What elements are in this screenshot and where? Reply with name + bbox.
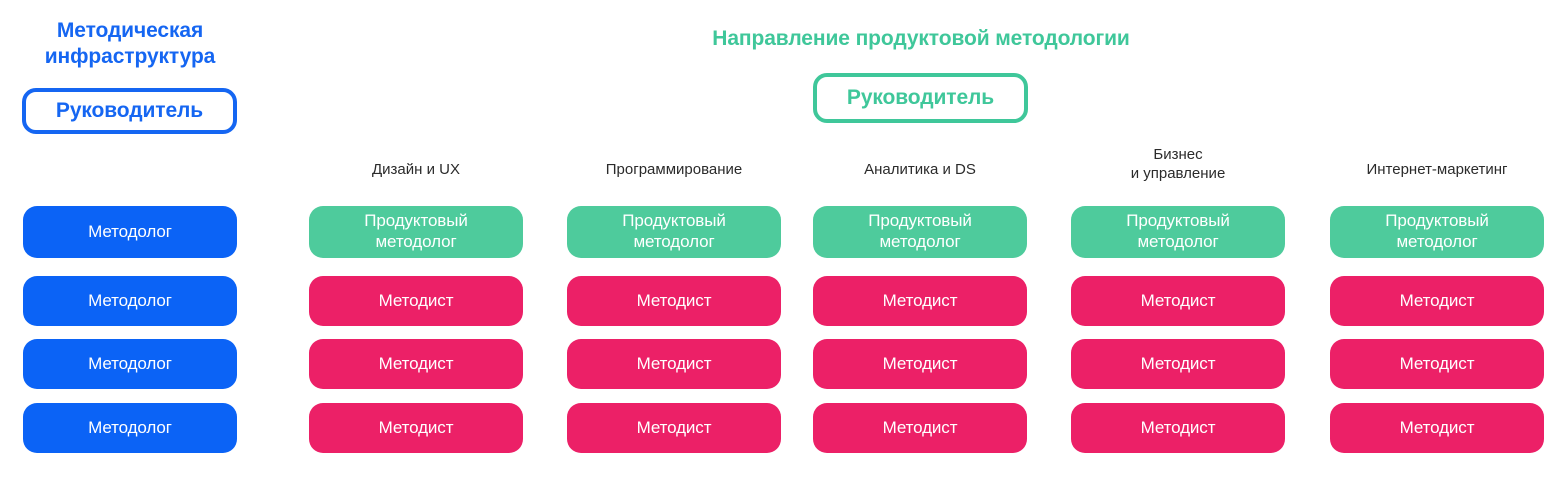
card-col5-row1[interactable]: Продуктовый методолог — [1330, 206, 1544, 258]
right-leader-box[interactable]: Руководитель — [813, 73, 1028, 123]
card-col2-row3[interactable]: Методист — [567, 339, 781, 389]
card-col5-row2[interactable]: Методист — [1330, 276, 1544, 326]
card-col3-row2[interactable]: Методист — [813, 276, 1027, 326]
card-col3-row1[interactable]: Продуктовый методолог — [813, 206, 1027, 258]
card-col2-row2[interactable]: Методист — [567, 276, 781, 326]
column-header-1: Дизайн и UX — [309, 160, 523, 179]
org-chart-canvas: Методическая инфраструктура Направление … — [0, 0, 1564, 504]
card-col4-row2[interactable]: Методист — [1071, 276, 1285, 326]
card-col1-row3[interactable]: Методист — [309, 339, 523, 389]
column-header-2: Программирование — [567, 160, 781, 179]
left-section-title: Методическая инфраструктура — [12, 18, 248, 69]
card-col1-row2[interactable]: Методист — [309, 276, 523, 326]
card-col1-row1[interactable]: Продуктовый методолог — [309, 206, 523, 258]
card-col1-row4[interactable]: Методист — [309, 403, 523, 453]
card-col3-row3[interactable]: Методист — [813, 339, 1027, 389]
card-col4-row3[interactable]: Методист — [1071, 339, 1285, 389]
left-leader-box[interactable]: Руководитель — [22, 88, 237, 134]
card-col3-row4[interactable]: Методист — [813, 403, 1027, 453]
column-header-5: Интернет-маркетинг — [1330, 160, 1544, 179]
column-header-3: Аналитика и DS — [813, 160, 1027, 179]
card-col2-row1[interactable]: Продуктовый методолог — [567, 206, 781, 258]
card-col4-row4[interactable]: Методист — [1071, 403, 1285, 453]
card-col4-row1[interactable]: Продуктовый методолог — [1071, 206, 1285, 258]
card-methodolog-2[interactable]: Методолог — [23, 276, 237, 326]
column-header-4: Бизнес и управление — [1071, 145, 1285, 183]
card-col5-row4[interactable]: Методист — [1330, 403, 1544, 453]
card-methodolog-3[interactable]: Методолог — [23, 339, 237, 389]
card-col5-row3[interactable]: Методист — [1330, 339, 1544, 389]
card-col2-row4[interactable]: Методист — [567, 403, 781, 453]
card-methodolog-4[interactable]: Методолог — [23, 403, 237, 453]
right-section-title: Направление продуктовой методологии — [600, 26, 1242, 52]
card-methodolog-1[interactable]: Методолог — [23, 206, 237, 258]
